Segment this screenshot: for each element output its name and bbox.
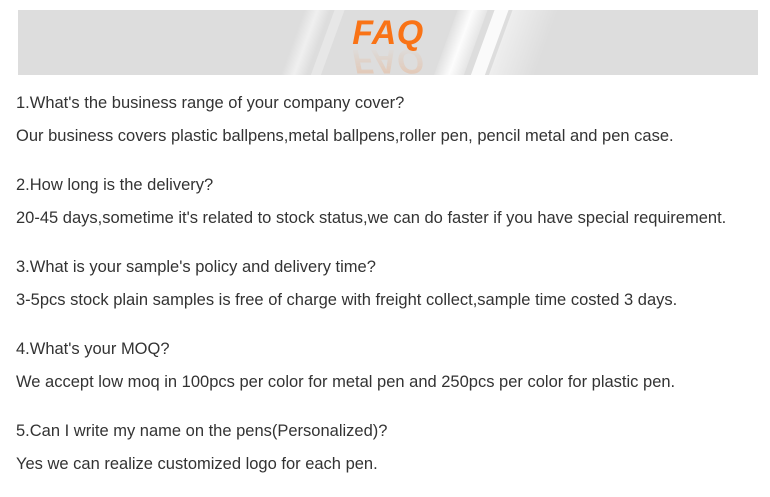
faq-item: 4.What's your MOQ? We accept low moq in …	[16, 333, 760, 399]
faq-question: 2.How long is the delivery?	[16, 169, 760, 202]
faq-page: FAQ FAQ 1.What's the business range of y…	[0, 0, 770, 472]
faq-answer: Our business covers plastic ballpens,met…	[16, 120, 760, 153]
faq-answer: Yes we can realize customized logo for e…	[16, 448, 760, 481]
faq-question: 3.What is your sample's policy and deliv…	[16, 251, 760, 284]
faq-item: 3.What is your sample's policy and deliv…	[16, 251, 760, 317]
faq-item: 5.Can I write my name on the pens(Person…	[16, 415, 760, 481]
faq-list: 1.What's the business range of your comp…	[16, 87, 760, 497]
faq-item: 1.What's the business range of your comp…	[16, 87, 760, 153]
faq-question: 1.What's the business range of your comp…	[16, 87, 760, 120]
faq-question: 4.What's your MOQ?	[16, 333, 760, 366]
faq-answer: We accept low moq in 100pcs per color fo…	[16, 366, 760, 399]
faq-answer: 20-45 days,sometime it's related to stoc…	[16, 202, 760, 235]
faq-banner: FAQ FAQ	[18, 10, 758, 75]
banner-title-group: FAQ FAQ	[18, 10, 758, 75]
page-title-reflection: FAQ	[352, 43, 423, 75]
faq-answer: 3-5pcs stock plain samples is free of ch…	[16, 284, 760, 317]
faq-question: 5.Can I write my name on the pens(Person…	[16, 415, 760, 448]
faq-item: 2.How long is the delivery? 20-45 days,s…	[16, 169, 760, 235]
